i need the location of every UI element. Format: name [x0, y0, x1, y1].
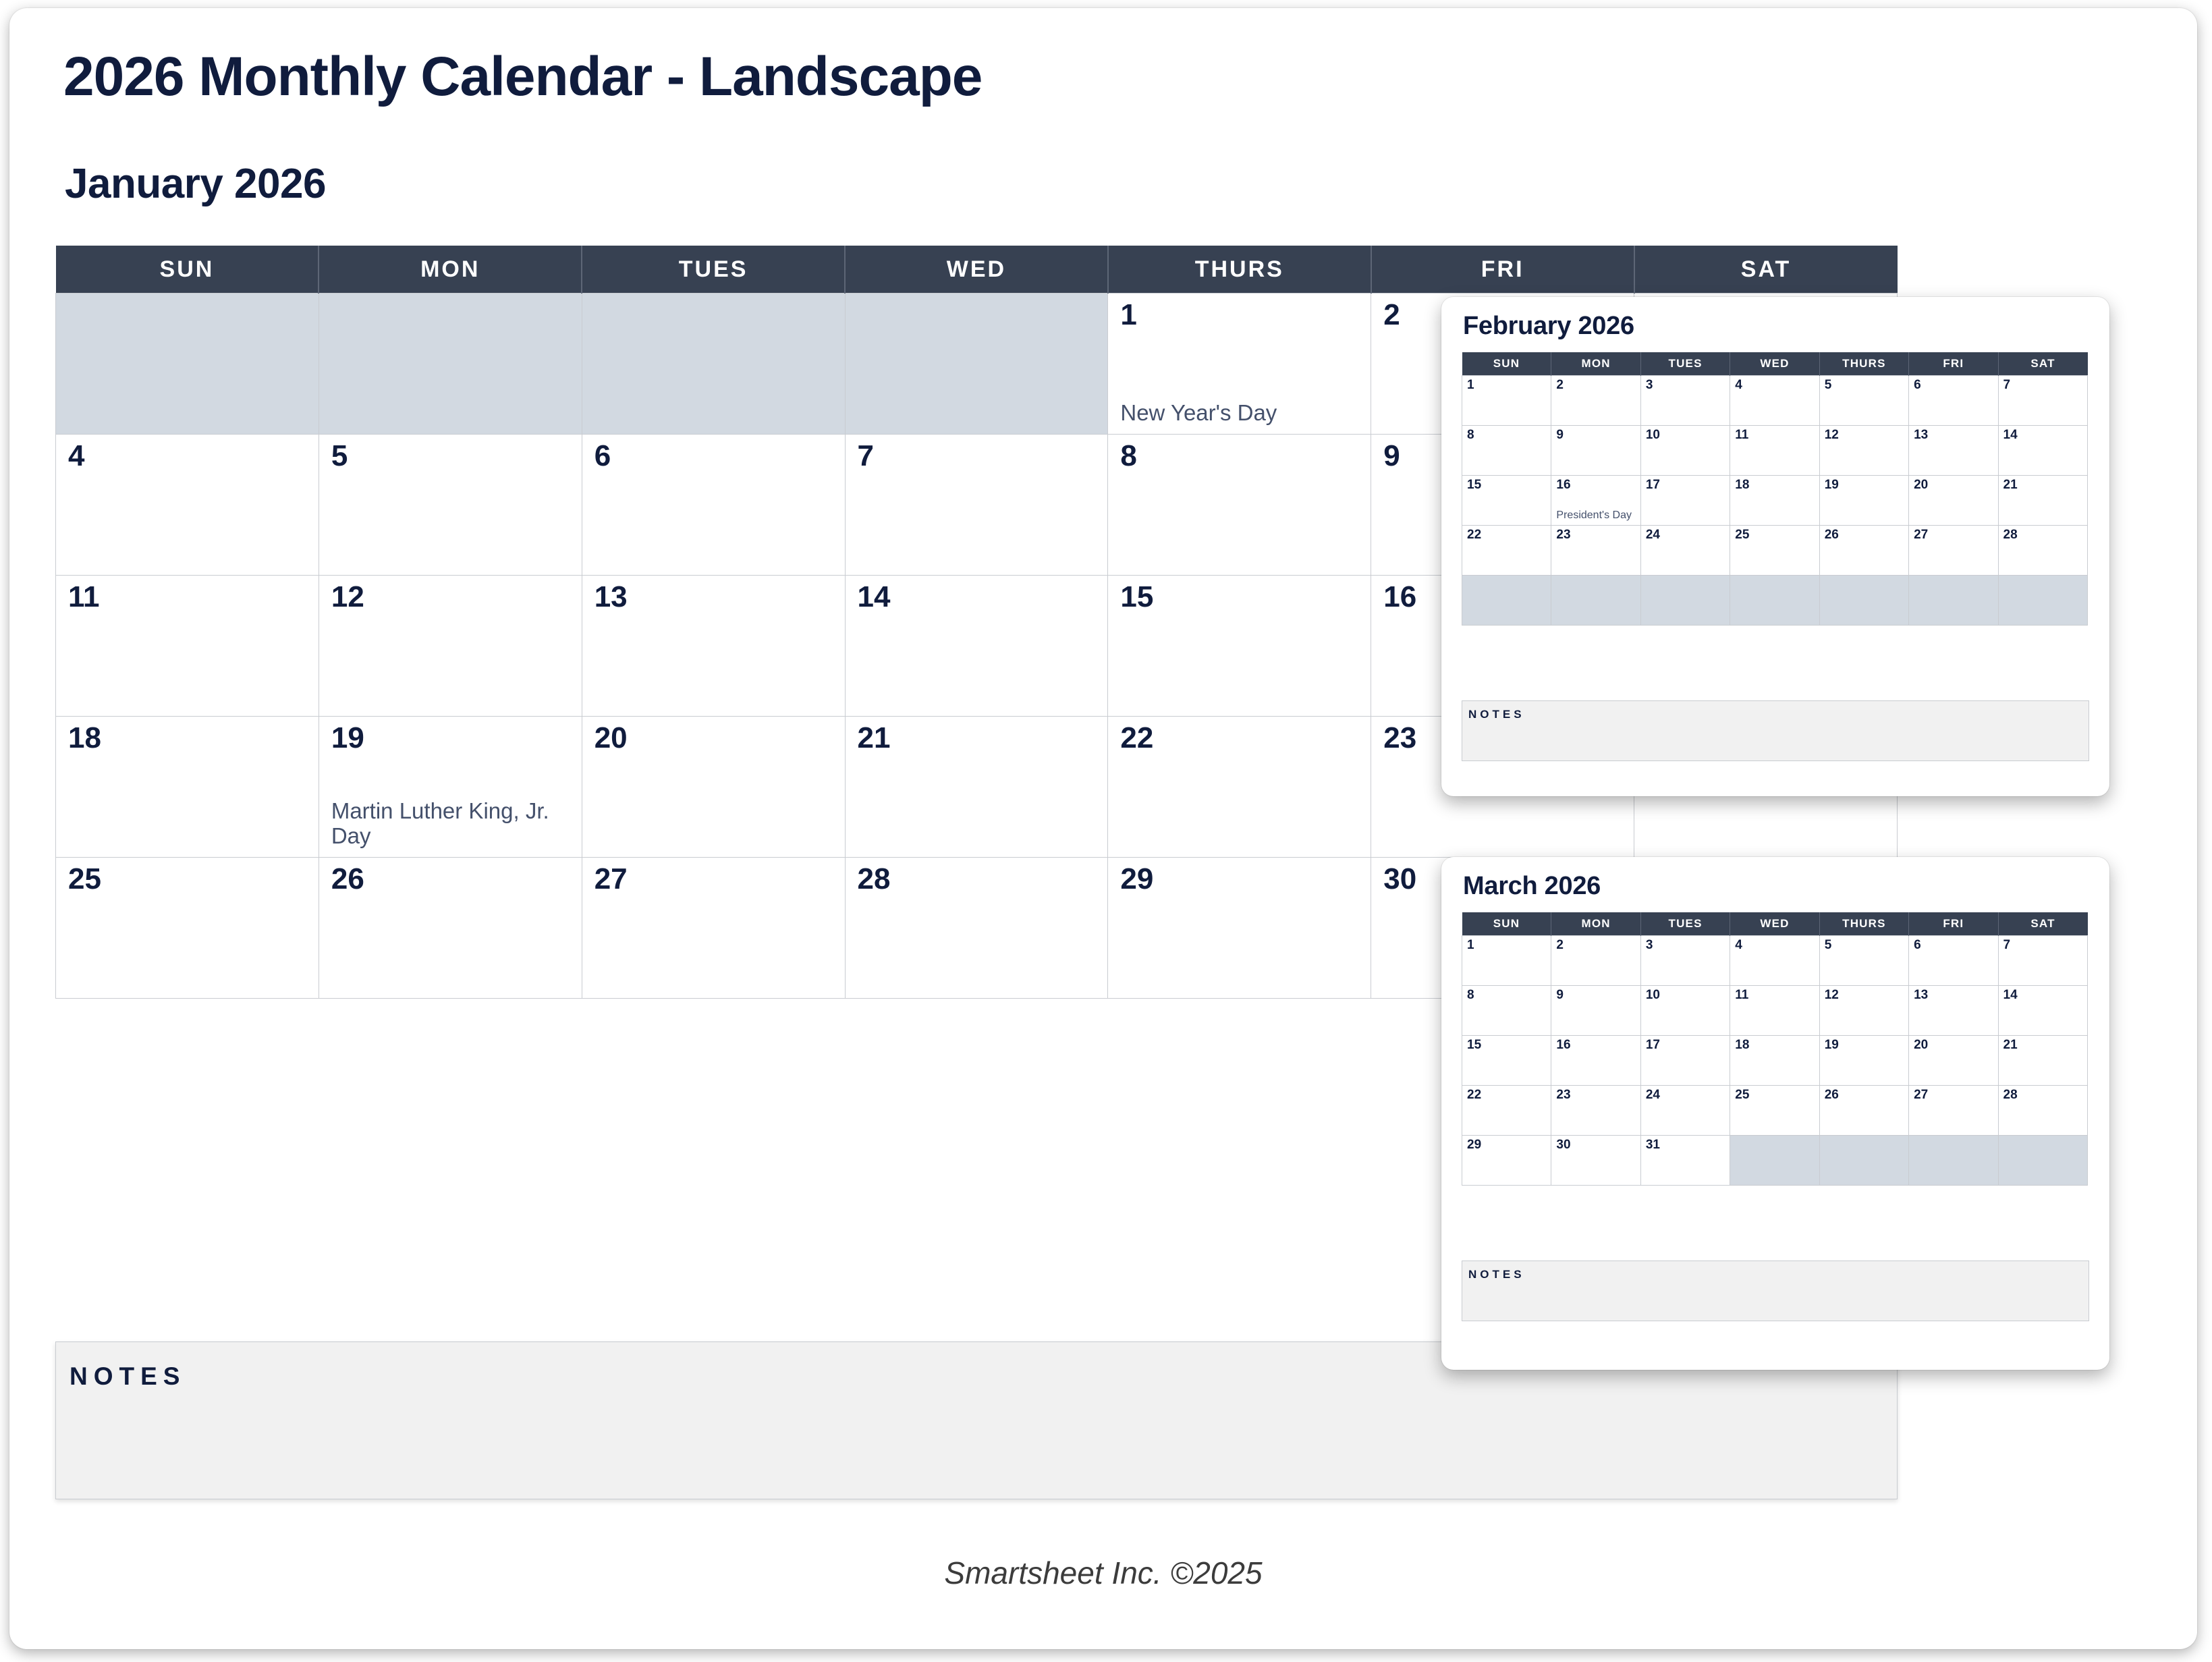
- calendar-empty-cell: [1998, 576, 2087, 626]
- calendar-empty-cell: [582, 294, 845, 435]
- mini-calendar-grid-february: SUN MON TUES WED THURS FRI SAT 123456789…: [1462, 352, 2088, 626]
- day-number: 12: [1825, 428, 1839, 441]
- day-number: 25: [1735, 528, 1749, 541]
- day-number: 23: [1383, 723, 1416, 753]
- day-number: 7: [2003, 379, 2011, 391]
- day-number: 3: [1646, 939, 1653, 951]
- calendar-day-cell[interactable]: 1: [1462, 936, 1551, 986]
- calendar-day-cell[interactable]: 9: [1551, 426, 1640, 476]
- main-month-title: January 2026: [65, 160, 326, 208]
- calendar-day-cell[interactable]: 9: [1551, 986, 1640, 1036]
- calendar-week-row: 891011121314: [1462, 426, 2088, 476]
- calendar-day-cell[interactable]: 13: [582, 576, 845, 717]
- calendar-day-cell[interactable]: 20: [1909, 1036, 1998, 1086]
- day-number: 16: [1556, 1038, 1570, 1051]
- mini-calendar-body-february: 12345678910111213141516President's Day17…: [1462, 376, 2088, 626]
- mini-weekday-header-wed: WED: [1730, 352, 1819, 376]
- day-number: 25: [1735, 1088, 1749, 1101]
- day-number: 13: [1914, 428, 1928, 441]
- calendar-day-cell[interactable]: 25: [56, 858, 319, 999]
- calendar-empty-cell: [1462, 576, 1551, 626]
- calendar-day-cell[interactable]: 10: [1640, 986, 1730, 1036]
- weekday-header-thurs: THURS: [1108, 246, 1371, 294]
- day-number: 29: [1467, 1138, 1481, 1151]
- day-number: 13: [595, 582, 628, 612]
- calendar-day-cell[interactable]: 5: [319, 435, 582, 576]
- day-number: 17: [1646, 1038, 1660, 1051]
- day-number: 18: [1735, 1038, 1749, 1051]
- mini-calendar-body-march: 1234567891011121314151617181920212223242…: [1462, 936, 2088, 1186]
- mini-weekday-header-mon: MON: [1551, 352, 1640, 376]
- day-number: 11: [68, 582, 100, 612]
- day-number: 6: [1914, 379, 1921, 391]
- calendar-day-cell[interactable]: 25: [1730, 1086, 1819, 1136]
- calendar-day-cell[interactable]: 18: [1730, 1036, 1819, 1086]
- calendar-day-cell[interactable]: 11: [56, 576, 319, 717]
- day-number: 22: [1467, 1088, 1481, 1101]
- day-number: 11: [1735, 989, 1748, 1001]
- calendar-day-cell[interactable]: 4: [1730, 936, 1819, 986]
- calendar-day-cell[interactable]: 11: [1730, 426, 1819, 476]
- day-number: 23: [1556, 1088, 1570, 1101]
- calendar-week-row: 891011121314: [1462, 986, 2088, 1036]
- day-number: 6: [595, 441, 611, 471]
- calendar-day-cell[interactable]: 28: [845, 858, 1108, 999]
- calendar-day-cell[interactable]: 21: [1998, 1036, 2087, 1086]
- day-number: 28: [2003, 1088, 2018, 1101]
- mini-panel-march: March 2026 SUN MON TUES WED THURS FRI SA…: [1441, 857, 2109, 1370]
- weekday-header-tues: TUES: [582, 246, 845, 294]
- footer-credit: Smartsheet Inc. ©2025: [9, 1555, 2197, 1591]
- mini-weekday-header-sun: SUN: [1462, 352, 1551, 376]
- calendar-day-cell[interactable]: 10: [1640, 426, 1730, 476]
- day-number: 14: [858, 582, 891, 612]
- day-number: 30: [1383, 864, 1416, 894]
- day-number: 20: [1914, 478, 1928, 491]
- mini-weekday-header-sat: SAT: [1998, 352, 2087, 376]
- day-number: 18: [68, 723, 101, 753]
- day-number: 11: [1735, 428, 1748, 441]
- day-number: 14: [2003, 428, 2018, 441]
- calendar-day-cell[interactable]: 19: [1819, 476, 1908, 526]
- calendar-day-cell[interactable]: 26: [319, 858, 582, 999]
- mini-calendar-grid-march: SUN MON TUES WED THURS FRI SAT 123456789…: [1462, 912, 2088, 1186]
- weekday-header-fri: FRI: [1371, 246, 1634, 294]
- day-number: 2: [1556, 379, 1564, 391]
- day-number: 8: [1467, 989, 1474, 1001]
- calendar-day-cell[interactable]: 31: [1640, 1136, 1730, 1186]
- day-number: 2: [1383, 300, 1400, 330]
- day-number: 7: [2003, 939, 2011, 951]
- calendar-day-cell[interactable]: 12: [1819, 986, 1908, 1036]
- day-number: 10: [1646, 428, 1660, 441]
- day-number: 4: [68, 441, 84, 471]
- day-number: 26: [1825, 528, 1839, 541]
- calendar-day-cell[interactable]: 23: [1551, 1086, 1640, 1136]
- day-number: 27: [1914, 1088, 1928, 1101]
- calendar-empty-cell: [1909, 1136, 1998, 1186]
- calendar-empty-cell: [319, 294, 582, 435]
- day-number: 27: [595, 864, 628, 894]
- day-number: 24: [1646, 528, 1660, 541]
- weekday-header-sat: SAT: [1634, 246, 1898, 294]
- mini-notes-section-march[interactable]: NOTES: [1462, 1261, 2089, 1321]
- calendar-day-cell[interactable]: 26: [1819, 1086, 1908, 1136]
- day-number: 29: [1120, 864, 1153, 894]
- calendar-week-row: 22232425262728: [1462, 526, 2088, 576]
- calendar-day-cell[interactable]: 7: [1998, 376, 2087, 426]
- day-number: 9: [1556, 989, 1564, 1001]
- day-number: 19: [331, 723, 364, 753]
- day-number: 16: [1383, 582, 1416, 612]
- calendar-week-row: 15161718192021: [1462, 1036, 2088, 1086]
- day-number: 9: [1383, 441, 1400, 471]
- day-number: 5: [331, 441, 348, 471]
- mini-weekday-header-sat: SAT: [1998, 912, 2087, 936]
- day-number: 19: [1825, 478, 1839, 491]
- page-title: 2026 Monthly Calendar - Landscape: [63, 45, 982, 109]
- calendar-empty-cell: [1998, 1136, 2087, 1186]
- day-number: 28: [858, 864, 891, 894]
- mini-weekday-header-thurs: THURS: [1819, 352, 1908, 376]
- day-number: 14: [2003, 989, 2018, 1001]
- day-number: 8: [1467, 428, 1474, 441]
- calendar-day-cell[interactable]: 17: [1640, 1036, 1730, 1086]
- calendar-day-cell[interactable]: 3: [1640, 376, 1730, 426]
- weekday-header-sun: SUN: [56, 246, 319, 294]
- calendar-day-cell[interactable]: 21: [1998, 476, 2087, 526]
- mini-notes-label: NOTES: [1468, 1268, 1525, 1281]
- day-number: 5: [1825, 939, 1832, 951]
- day-number: 22: [1120, 723, 1153, 753]
- day-number: 10: [1646, 989, 1660, 1001]
- day-number: 19: [1825, 1038, 1839, 1051]
- calendar-day-cell[interactable]: 19: [1819, 1036, 1908, 1086]
- calendar-week-row: 1234567: [1462, 936, 2088, 986]
- calendar-empty-cell: [1730, 576, 1819, 626]
- day-number: 2: [1556, 939, 1564, 951]
- calendar-week-row: 22232425262728: [1462, 1086, 2088, 1136]
- mini-weekday-header-tues: TUES: [1640, 352, 1730, 376]
- calendar-day-cell[interactable]: 17: [1640, 476, 1730, 526]
- day-number: 12: [1825, 989, 1839, 1001]
- calendar-day-cell[interactable]: 7: [845, 435, 1108, 576]
- calendar-day-cell[interactable]: 14: [1998, 986, 2087, 1036]
- day-number: 20: [595, 723, 628, 753]
- calendar-day-cell[interactable]: 6: [1909, 936, 1998, 986]
- day-number: 1: [1467, 939, 1474, 951]
- day-event-label: New Year's Day: [1120, 401, 1364, 426]
- calendar-day-cell[interactable]: 27: [1909, 1086, 1998, 1136]
- calendar-day-cell[interactable]: 6: [1909, 376, 1998, 426]
- calendar-day-cell[interactable]: 26: [1819, 526, 1908, 576]
- day-number: 1: [1120, 300, 1136, 330]
- day-number: 23: [1556, 528, 1570, 541]
- calendar-day-cell[interactable]: 21: [845, 717, 1108, 858]
- notes-label: NOTES: [70, 1362, 186, 1391]
- calendar-day-cell[interactable]: 4: [1730, 376, 1819, 426]
- calendar-page-card: 2026 Monthly Calendar - Landscape Januar…: [9, 8, 2197, 1649]
- day-number: 1: [1467, 379, 1474, 391]
- calendar-day-cell[interactable]: 7: [1998, 936, 2087, 986]
- calendar-day-cell[interactable]: 1: [1462, 376, 1551, 426]
- calendar-empty-cell: [845, 294, 1108, 435]
- calendar-empty-cell: [1640, 576, 1730, 626]
- mini-weekday-header-wed: WED: [1730, 912, 1819, 936]
- calendar-day-cell[interactable]: 3: [1640, 936, 1730, 986]
- calendar-day-cell[interactable]: 2: [1551, 936, 1640, 986]
- calendar-empty-cell: [1819, 1136, 1908, 1186]
- day-event-label: President's Day: [1556, 509, 1637, 522]
- calendar-week-row: 293031: [1462, 1136, 2088, 1186]
- day-number: 8: [1120, 441, 1136, 471]
- calendar-day-cell[interactable]: 15: [1462, 476, 1551, 526]
- day-number: 31: [1646, 1138, 1660, 1151]
- calendar-day-cell[interactable]: 29: [1108, 858, 1371, 999]
- weekday-header-mon: MON: [319, 246, 582, 294]
- day-number: 20: [1914, 1038, 1928, 1051]
- calendar-day-cell[interactable]: 28: [1998, 526, 2087, 576]
- calendar-day-cell[interactable]: 1New Year's Day: [1108, 294, 1371, 435]
- main-weekday-header-row: SUN MON TUES WED THURS FRI SAT: [56, 246, 1898, 294]
- mini-panel-february: February 2026 SUN MON TUES WED THURS FRI…: [1441, 297, 2109, 796]
- day-number: 21: [2003, 478, 2018, 491]
- calendar-day-cell[interactable]: 11: [1730, 986, 1819, 1036]
- day-number: 4: [1735, 939, 1742, 951]
- calendar-day-cell[interactable]: 12: [319, 576, 582, 717]
- day-number: 9: [1556, 428, 1564, 441]
- calendar-day-cell[interactable]: 5: [1819, 376, 1908, 426]
- day-number: 26: [1825, 1088, 1839, 1101]
- calendar-empty-cell: [1551, 576, 1640, 626]
- calendar-week-row: [1462, 576, 2088, 626]
- calendar-day-cell[interactable]: 8: [1462, 986, 1551, 1036]
- calendar-day-cell[interactable]: 16: [1551, 1036, 1640, 1086]
- calendar-day-cell[interactable]: 16President's Day: [1551, 476, 1640, 526]
- day-number: 6: [1914, 939, 1921, 951]
- calendar-day-cell[interactable]: 25: [1730, 526, 1819, 576]
- calendar-day-cell[interactable]: 5: [1819, 936, 1908, 986]
- calendar-day-cell[interactable]: 15: [1462, 1036, 1551, 1086]
- mini-weekday-header-row: SUN MON TUES WED THURS FRI SAT: [1462, 352, 2088, 376]
- calendar-day-cell[interactable]: 18: [1730, 476, 1819, 526]
- calendar-day-cell[interactable]: 2: [1551, 376, 1640, 426]
- day-number: 30: [1556, 1138, 1570, 1151]
- day-number: 15: [1467, 1038, 1481, 1051]
- calendar-day-cell[interactable]: 14: [1998, 426, 2087, 476]
- day-number: 21: [858, 723, 891, 753]
- mini-weekday-header-fri: FRI: [1909, 912, 1998, 936]
- mini-month-title-february: February 2026: [1463, 312, 1634, 341]
- day-number: 4: [1735, 379, 1742, 391]
- day-number: 15: [1467, 478, 1481, 491]
- calendar-day-cell[interactable]: 15: [1108, 576, 1371, 717]
- calendar-day-cell[interactable]: 19Martin Luther King, Jr. Day: [319, 717, 582, 858]
- calendar-day-cell[interactable]: 27: [582, 858, 845, 999]
- mini-notes-section-february[interactable]: NOTES: [1462, 700, 2089, 761]
- mini-weekday-header-fri: FRI: [1909, 352, 1998, 376]
- calendar-day-cell[interactable]: 12: [1819, 426, 1908, 476]
- calendar-day-cell[interactable]: 4: [56, 435, 319, 576]
- day-event-label: Martin Luther King, Jr. Day: [331, 799, 575, 849]
- calendar-day-cell[interactable]: 24: [1640, 526, 1730, 576]
- calendar-day-cell[interactable]: 8: [1108, 435, 1371, 576]
- calendar-day-cell[interactable]: 22: [1462, 1086, 1551, 1136]
- calendar-day-cell[interactable]: 23: [1551, 526, 1640, 576]
- day-number: 26: [331, 864, 364, 894]
- day-number: 7: [858, 441, 874, 471]
- mini-notes-label: NOTES: [1468, 708, 1525, 721]
- calendar-day-cell[interactable]: 13: [1909, 426, 1998, 476]
- calendar-empty-cell: [1730, 1136, 1819, 1186]
- day-number: 22: [1467, 528, 1481, 541]
- day-number: 5: [1825, 379, 1832, 391]
- calendar-day-cell[interactable]: 20: [1909, 476, 1998, 526]
- day-number: 18: [1735, 478, 1749, 491]
- calendar-day-cell[interactable]: 13: [1909, 986, 1998, 1036]
- day-number: 25: [68, 864, 101, 894]
- mini-weekday-header-tues: TUES: [1640, 912, 1730, 936]
- calendar-day-cell[interactable]: 30: [1551, 1136, 1640, 1186]
- mini-weekday-header-sun: SUN: [1462, 912, 1551, 936]
- day-number: 3: [1646, 379, 1653, 391]
- day-number: 13: [1914, 989, 1928, 1001]
- calendar-day-cell[interactable]: 8: [1462, 426, 1551, 476]
- calendar-day-cell[interactable]: 22: [1108, 717, 1371, 858]
- calendar-day-cell[interactable]: 22: [1462, 526, 1551, 576]
- mini-month-title-march: March 2026: [1463, 872, 1601, 901]
- day-number: 15: [1120, 582, 1153, 612]
- day-number: 17: [1646, 478, 1660, 491]
- day-number: 16: [1556, 478, 1570, 491]
- calendar-empty-cell: [56, 294, 319, 435]
- calendar-day-cell[interactable]: 14: [845, 576, 1108, 717]
- weekday-header-wed: WED: [845, 246, 1108, 294]
- calendar-week-row: 1234567: [1462, 376, 2088, 426]
- day-number: 27: [1914, 528, 1928, 541]
- mini-weekday-header-mon: MON: [1551, 912, 1640, 936]
- day-number: 28: [2003, 528, 2018, 541]
- calendar-day-cell[interactable]: 27: [1909, 526, 1998, 576]
- calendar-day-cell[interactable]: 20: [582, 717, 845, 858]
- calendar-day-cell[interactable]: 24: [1640, 1086, 1730, 1136]
- calendar-week-row: 1516President's Day1718192021: [1462, 476, 2088, 526]
- calendar-day-cell[interactable]: 28: [1998, 1086, 2087, 1136]
- day-number: 24: [1646, 1088, 1660, 1101]
- day-number: 12: [331, 582, 364, 612]
- calendar-day-cell[interactable]: 6: [582, 435, 845, 576]
- calendar-day-cell[interactable]: 29: [1462, 1136, 1551, 1186]
- calendar-empty-cell: [1909, 576, 1998, 626]
- calendar-empty-cell: [1819, 576, 1908, 626]
- calendar-day-cell[interactable]: 18: [56, 717, 319, 858]
- mini-weekday-header-row: SUN MON TUES WED THURS FRI SAT: [1462, 912, 2088, 936]
- day-number: 21: [2003, 1038, 2018, 1051]
- mini-weekday-header-thurs: THURS: [1819, 912, 1908, 936]
